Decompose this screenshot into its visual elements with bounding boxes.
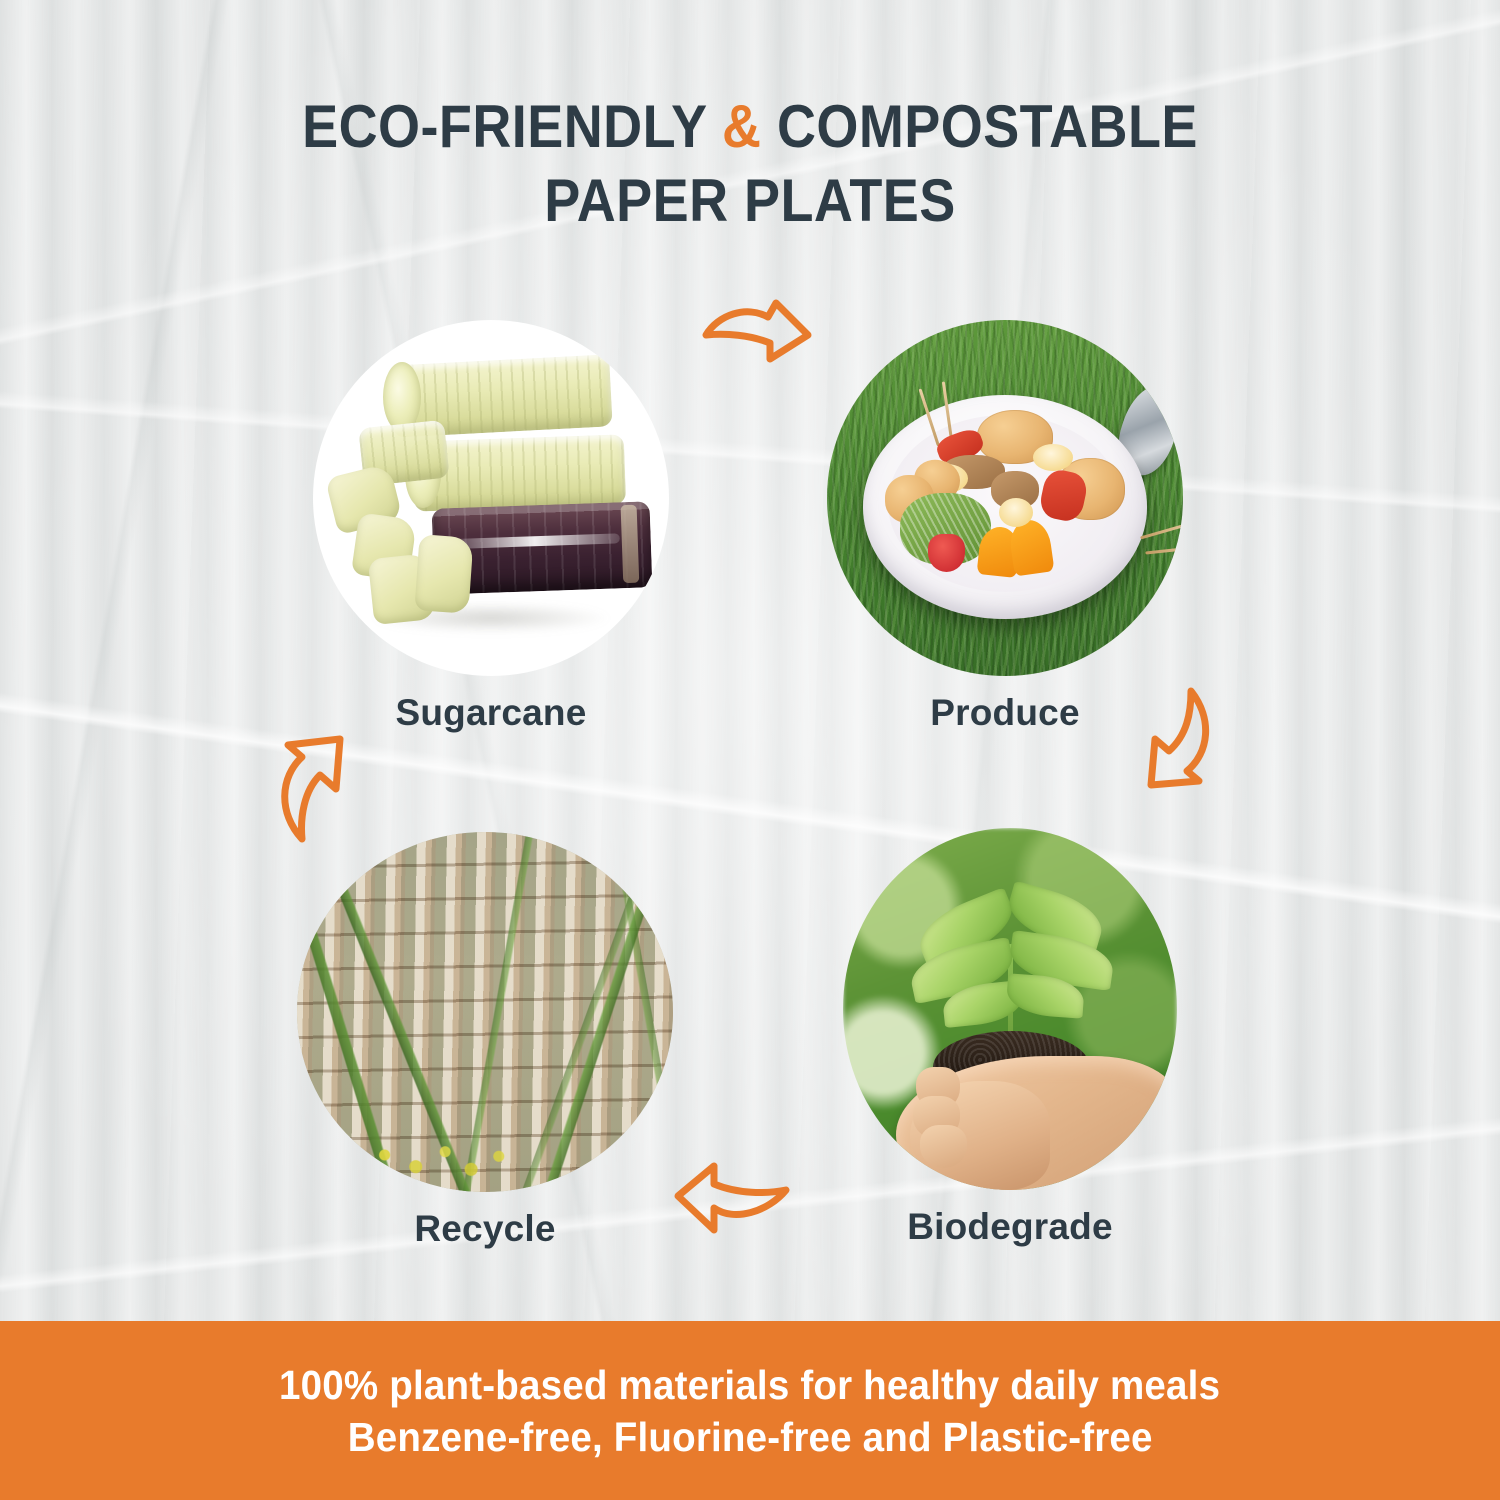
sugarcane-field [297,832,673,1192]
curved-arrow-right-down-icon [700,295,820,375]
produce-label: Produce [827,692,1183,734]
curved-arrow-left-icon [672,1160,792,1242]
recycle-image [297,832,673,1192]
title-text-part2: COMPOSTABLE [761,93,1197,160]
cycle-node-biodegrade: Biodegrade [843,828,1177,1248]
biodegrade-image [843,828,1177,1190]
cycle-node-sugarcane: Sugarcane [313,320,669,734]
cycle-node-recycle: Recycle [297,832,673,1250]
biodegrade-label: Biodegrade [843,1206,1177,1248]
purple-cane-node-band [620,505,639,583]
title-ampersand: & [722,93,761,160]
sugarcane-label: Sugarcane [313,692,669,734]
finger-3 [920,1125,967,1168]
cane-chunk-4 [414,534,473,614]
title-text-part1: ECO-FRIENDLY [302,93,722,160]
curved-arrow-up-right-icon [258,733,358,845]
title-line-1: ECO-FRIENDLY & COMPOSTABLE [75,97,1425,157]
paper-plate [863,395,1148,619]
strawberry [928,534,965,572]
field-yellow-flowers [350,1116,523,1181]
purple-cane-highlight [450,533,620,549]
peeled-cane-top-cap [383,362,421,432]
bottom-banner: 100% plant-based materials for healthy d… [0,1321,1500,1500]
title-line-2: PAPER PLATES [75,171,1425,231]
recycle-label: Recycle [297,1208,673,1250]
banner-line-1: 100% plant-based materials for healthy d… [279,1359,1220,1411]
sugarcane-image [313,320,669,676]
page-title: ECO-FRIENDLY & COMPOSTABLE PAPER PLATES [0,97,1500,231]
cycle-node-produce: Produce [827,320,1183,734]
curved-arrow-down-left-icon [1135,685,1235,795]
produce-image [827,320,1183,676]
banner-line-2: Benzene-free, Fluorine-free and Plastic-… [348,1411,1153,1463]
